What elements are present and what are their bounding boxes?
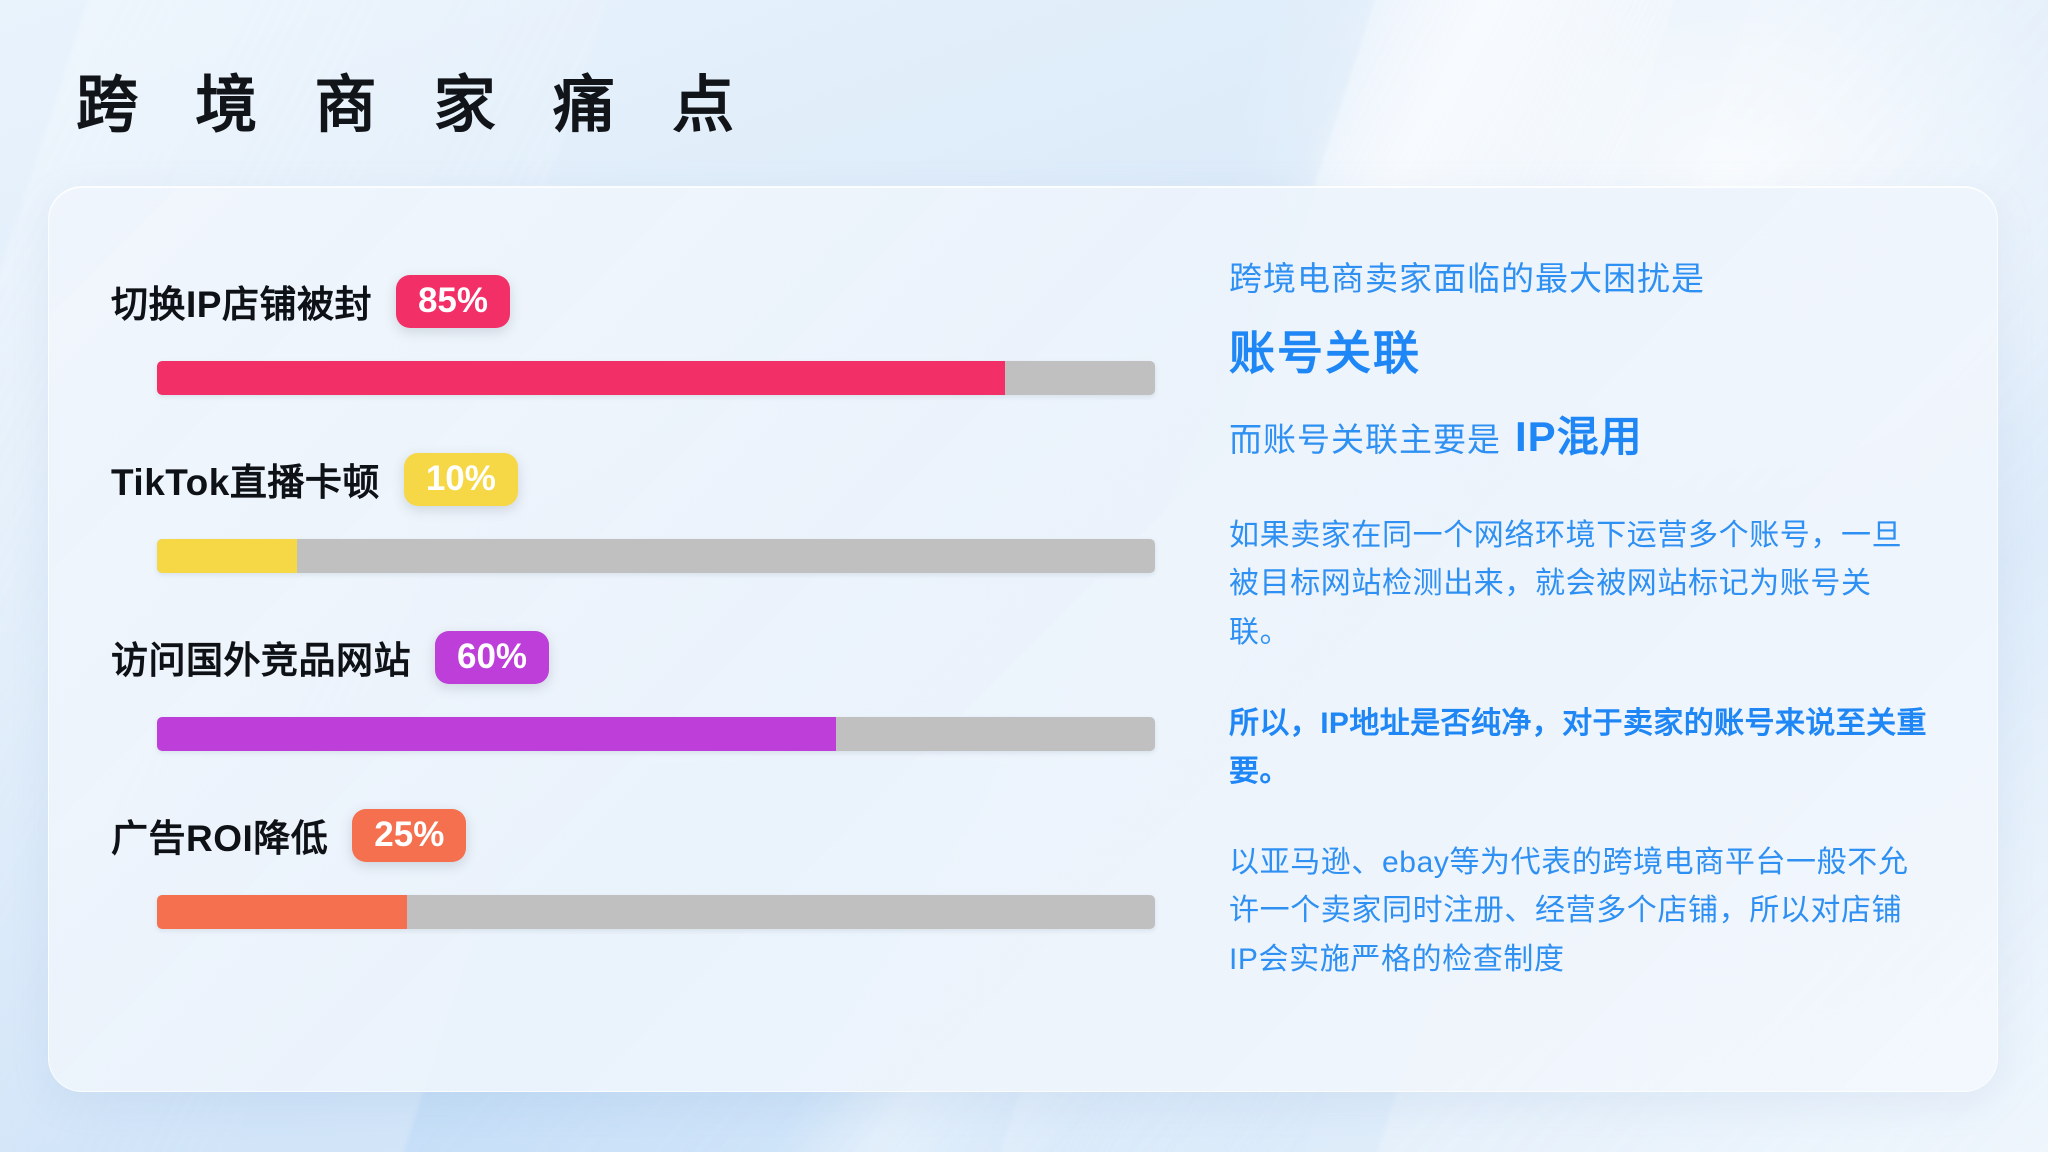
bar-label: 切换IP店铺被封 bbox=[111, 274, 372, 328]
paragraph-3: 以亚马逊、ebay等为代表的跨境电商平台一般不允许一个卖家同时注册、经营多个店铺… bbox=[1229, 839, 1927, 985]
bar-value-badge: 60% bbox=[435, 631, 549, 684]
bar-row: 切换IP店铺被封 85% bbox=[109, 257, 1179, 435]
bar-value-badge: 85% bbox=[396, 275, 510, 328]
lead-line-3: 而账号关联主要是 IP混用 bbox=[1229, 403, 1927, 464]
bar-label: 访问国外竞品网站 bbox=[111, 630, 411, 684]
bar-track bbox=[157, 895, 1155, 929]
bar-row: 广告ROI降低 25% bbox=[109, 791, 1179, 969]
bar-header: 广告ROI降低 25% bbox=[109, 791, 1179, 879]
paragraph-1: 如果卖家在同一个网络环境下运营多个账号，一旦被目标网站检测出来，就会被网站标记为… bbox=[1229, 512, 1927, 658]
bar-value-badge: 10% bbox=[404, 453, 518, 506]
explanation-pane: 跨境电商卖家面临的最大困扰是 账号关联 而账号关联主要是 IP混用 如果卖家在同… bbox=[1179, 187, 1997, 1091]
lead-line-3-highlight: IP混用 bbox=[1515, 403, 1643, 464]
bar-row: TikTok直播卡顿 10% bbox=[109, 435, 1179, 613]
bar-header: TikTok直播卡顿 10% bbox=[109, 435, 1179, 523]
bar-label: TikTok直播卡顿 bbox=[111, 452, 380, 506]
bar-header: 访问国外竞品网站 60% bbox=[109, 613, 1179, 701]
lead-line-1: 跨境电商卖家面临的最大困扰是 bbox=[1229, 255, 1927, 303]
bar-track bbox=[157, 361, 1155, 395]
paragraph-2: 所以，IP地址是否纯净，对于卖家的账号来说至关重要。 bbox=[1229, 700, 1927, 797]
bar-row: 访问国外竞品网站 60% bbox=[109, 613, 1179, 791]
bar-label: 广告ROI降低 bbox=[111, 808, 328, 862]
content-card: 切换IP店铺被封 85% TikTok直播卡顿 10% 访问国外竞品网站 60% bbox=[48, 186, 1998, 1092]
lead-line-2-highlight: 账号关联 bbox=[1229, 317, 1927, 383]
bar-fill bbox=[157, 539, 297, 573]
bar-track bbox=[157, 717, 1155, 751]
bar-fill bbox=[157, 717, 836, 751]
bar-header: 切换IP店铺被封 85% bbox=[109, 257, 1179, 345]
pain-point-chart: 切换IP店铺被封 85% TikTok直播卡顿 10% 访问国外竞品网站 60% bbox=[49, 187, 1179, 1091]
bar-fill bbox=[157, 895, 407, 929]
bar-fill bbox=[157, 361, 1005, 395]
bar-track bbox=[157, 539, 1155, 573]
page-title: 跨 境 商 家 痛 点 bbox=[76, 54, 754, 144]
bar-value-badge: 25% bbox=[352, 809, 466, 862]
lead-line-3-prefix: 而账号关联主要是 bbox=[1229, 413, 1501, 461]
